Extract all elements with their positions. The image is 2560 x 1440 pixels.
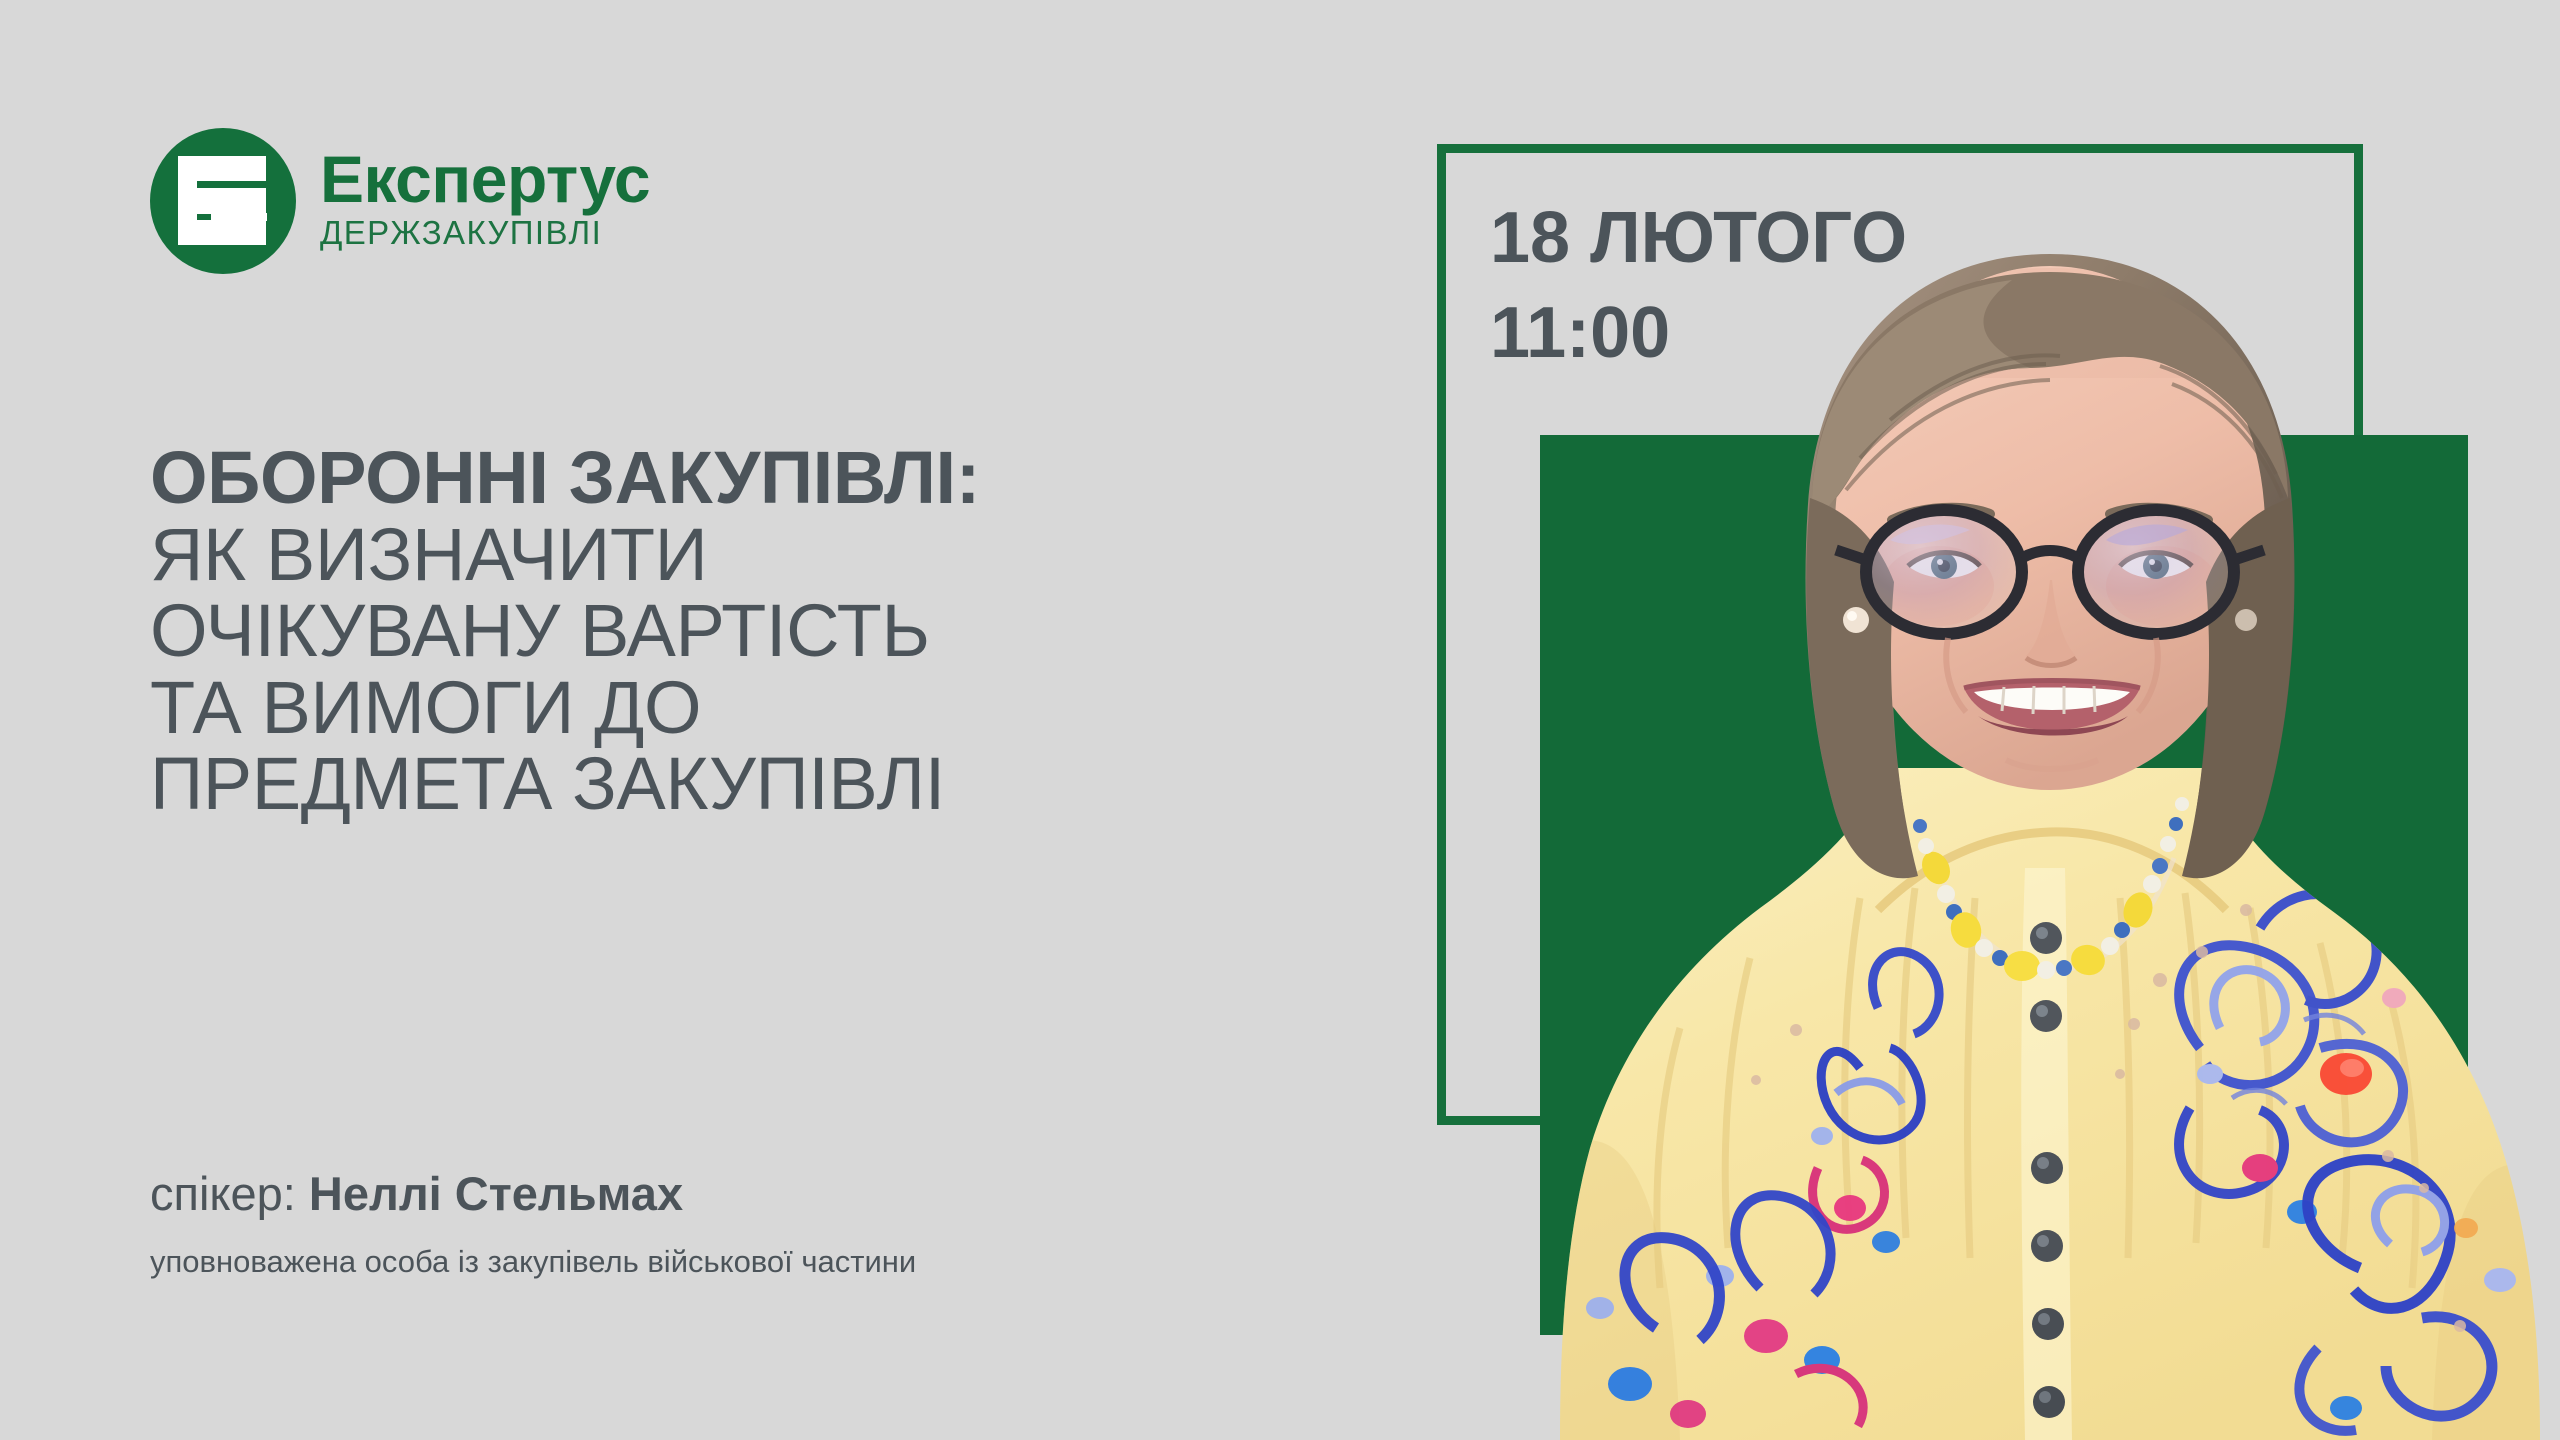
headline-line-2: ЯК ВИЗНАЧИТИ	[150, 517, 1330, 594]
event-date: 18 ЛЮТОГО	[1490, 198, 1907, 278]
speaker-label: спікер:	[150, 1167, 309, 1220]
speaker-name-line: спікер: Неллі Стельмах	[150, 1168, 916, 1220]
brand-logo[interactable]: Експертус ДЕРЖЗАКУПІВЛІ	[150, 128, 650, 274]
headline-line-1: ОБОРОННІ ЗАКУПІВЛІ:	[150, 440, 1330, 517]
headline-line-5: ПРЕДМЕТА ЗАКУПІВЛІ	[150, 746, 1330, 823]
headline-line-3: ОЧІКУВАНУ ВАРТІСТЬ	[150, 593, 1330, 670]
headline-line-4: ТА ВИМОГИ ДО	[150, 670, 1330, 747]
page-title: ОБОРОННІ ЗАКУПІВЛІ: ЯК ВИЗНАЧИТИ ОЧІКУВА…	[150, 440, 1330, 823]
expertus-e-mark-icon	[150, 128, 296, 274]
event-datetime: 18 ЛЮТОГО 11:00	[1490, 180, 2130, 410]
speaker-role: уповноважена особа із закупівель військо…	[150, 1244, 916, 1280]
speaker-name: Неллі Стельмах	[309, 1167, 683, 1220]
brand-logo-text: Експертус ДЕРЖЗАКУПІВЛІ	[320, 147, 650, 256]
event-time: 11:00	[1490, 293, 1670, 373]
speaker-block: спікер: Неллі Стельмах уповноважена особ…	[150, 1168, 916, 1280]
brand-title: Експертус	[320, 147, 650, 212]
brand-subtitle: ДЕРЖЗАКУПІВЛІ	[320, 215, 650, 251]
webinar-banner: Експертус ДЕРЖЗАКУПІВЛІ ОБОРОННІ ЗАКУПІВ…	[0, 0, 2560, 1440]
